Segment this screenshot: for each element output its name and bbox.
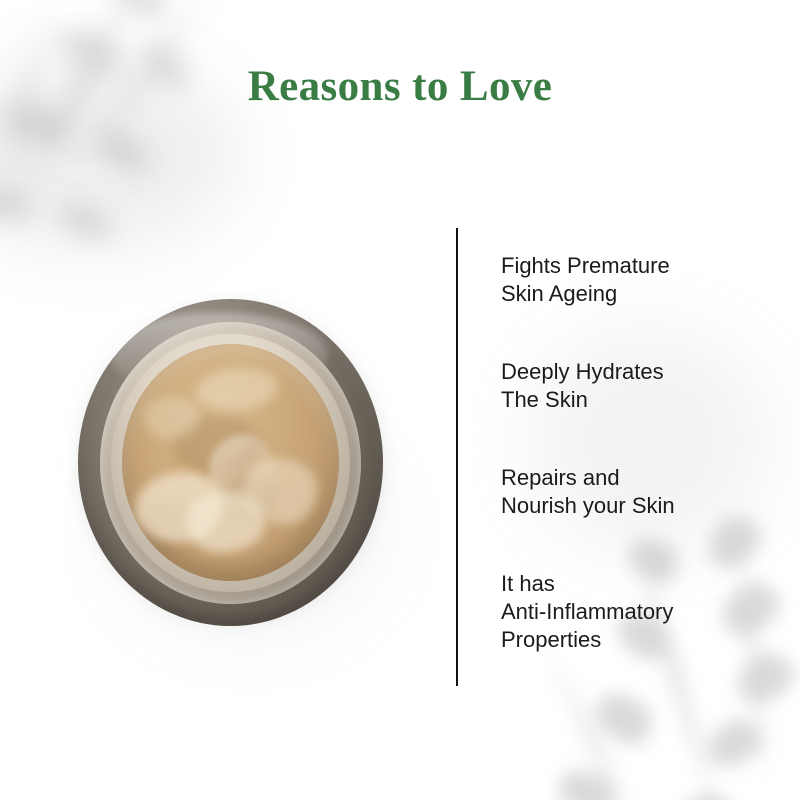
benefit-item-4: It has Anti-Inflammatory Properties [501, 570, 771, 654]
benefit-item-2: Deeply Hydrates The Skin [501, 358, 771, 414]
jar-cream-surface [122, 344, 339, 581]
product-jar-image [78, 299, 383, 626]
benefits-list: Fights Premature Skin Ageing Deeply Hydr… [501, 252, 771, 654]
cream-highlight-upper-left [144, 396, 200, 439]
branch-shadow-top-left [0, 0, 320, 300]
benefit-item-1: Fights Premature Skin Ageing [501, 252, 771, 308]
cream-highlight-top [196, 368, 278, 411]
product-benefits-graphic: Reasons to Love Fights Premature Skin Ag… [0, 0, 800, 800]
benefit-item-3: Repairs and Nourish your Skin [501, 464, 771, 520]
vertical-divider [456, 228, 458, 686]
page-title: Reasons to Love [0, 62, 800, 111]
cream-highlight-bottom [187, 491, 265, 553]
